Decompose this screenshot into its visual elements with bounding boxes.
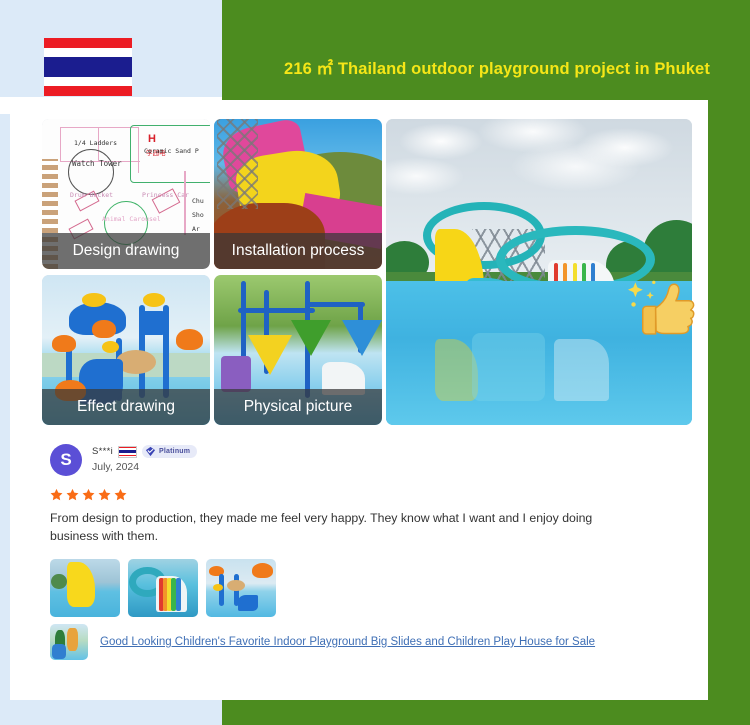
star-icon bbox=[114, 488, 127, 501]
project-header-bar: 216 ㎡ Thailand outdoor playground projec… bbox=[222, 36, 750, 97]
gallery-tile-physical-picture[interactable]: Physical picture bbox=[214, 275, 382, 425]
review-thumbnail[interactable] bbox=[206, 559, 276, 617]
bottom-left-strip bbox=[0, 700, 222, 725]
review-text: From design to production, they made me … bbox=[50, 510, 635, 546]
page-title: 216 ㎡ Thailand outdoor playground projec… bbox=[262, 55, 710, 79]
product-link-row[interactable]: Good Looking Children's Favorite Indoor … bbox=[50, 624, 595, 660]
reviewer-name-row: S***i Platinum bbox=[92, 445, 197, 458]
star-icon bbox=[66, 488, 79, 501]
reviewer-meta: S***i Platinum July, 2024 bbox=[92, 444, 197, 473]
gallery-tile-design-drawing[interactable]: 1/4 Ladders H 学园电 Watch Tower Ceramic Sa… bbox=[42, 119, 210, 269]
review-date: July, 2024 bbox=[92, 461, 197, 473]
rating-stars bbox=[50, 488, 690, 501]
content-card: 1/4 Ladders H 学园电 Watch Tower Ceramic Sa… bbox=[10, 100, 708, 700]
review-thumbnails bbox=[50, 559, 690, 617]
gallery-tile-caption: Physical picture bbox=[214, 389, 382, 425]
star-icon bbox=[82, 488, 95, 501]
waterpark-slides-pool-photo-art bbox=[386, 119, 692, 425]
status-badge: Platinum bbox=[142, 445, 197, 458]
page-root: 216 ㎡ Thailand outdoor playground projec… bbox=[0, 0, 750, 725]
project-gallery: 1/4 Ladders H 学园电 Watch Tower Ceramic Sa… bbox=[42, 119, 692, 431]
gallery-tile-caption: Design drawing bbox=[42, 233, 210, 269]
star-icon bbox=[50, 488, 63, 501]
reviewer-header: S S***i Platinum bbox=[50, 444, 690, 476]
badge-label: Platinum bbox=[159, 448, 190, 455]
product-thumbnail[interactable] bbox=[50, 624, 88, 660]
thailand-flag-icon bbox=[118, 446, 137, 458]
review-thumbnail[interactable] bbox=[128, 559, 198, 617]
product-link[interactable]: Good Looking Children's Favorite Indoor … bbox=[100, 636, 595, 648]
gallery-tile-caption: Installation process bbox=[214, 233, 382, 269]
thailand-flag-icon bbox=[44, 38, 132, 96]
diamond-verified-icon bbox=[145, 446, 156, 457]
gallery-tile-installation-process[interactable]: Installation process bbox=[214, 119, 382, 269]
star-icon bbox=[98, 488, 111, 501]
review-thumbnail[interactable] bbox=[50, 559, 120, 617]
gallery-tile-main-photo[interactable] bbox=[386, 119, 692, 425]
review-block: S S***i Platinum bbox=[50, 444, 690, 617]
gallery-tile-caption: Effect drawing bbox=[42, 389, 210, 425]
gallery-tile-effect-drawing[interactable]: Effect drawing bbox=[42, 275, 210, 425]
avatar: S bbox=[50, 444, 82, 476]
thumbs-up-icon bbox=[626, 275, 700, 345]
reviewer-name: S***i bbox=[92, 446, 113, 457]
